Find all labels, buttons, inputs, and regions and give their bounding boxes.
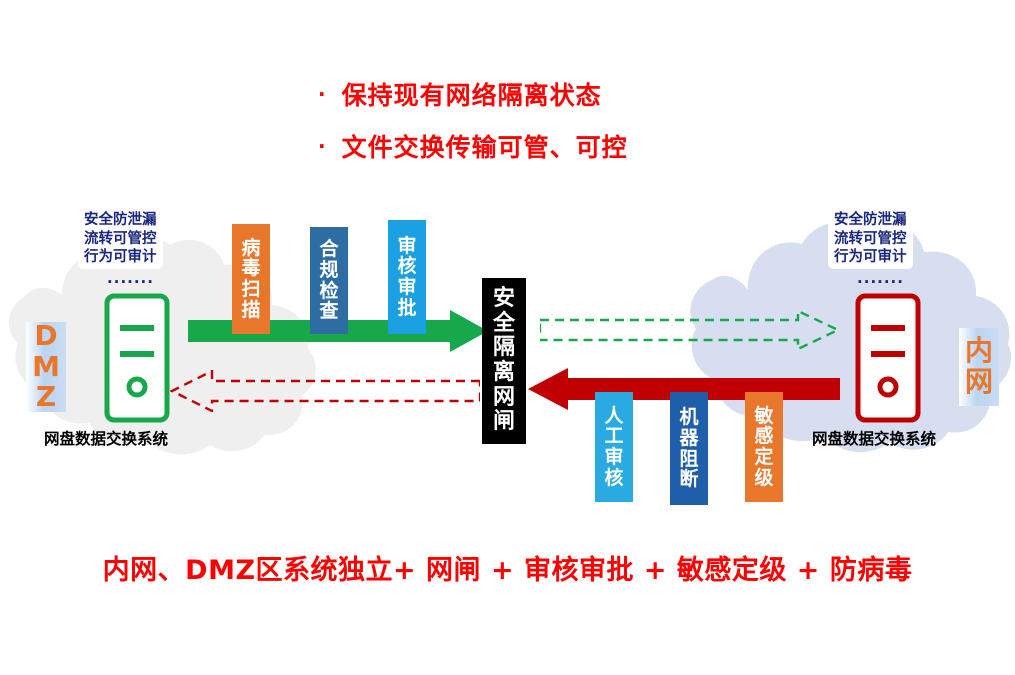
- pill-sensitivity-grading[interactable]: 敏 感 定 级: [745, 392, 783, 502]
- pill-machine-block-char-3: 断: [679, 469, 698, 490]
- pill-manual-review[interactable]: 人 工 审 核: [595, 392, 633, 502]
- bullet-marker-icon: ·: [318, 136, 326, 156]
- pill-machine-block[interactable]: 机 器 阻 断: [670, 392, 708, 505]
- zone-label-dmz: D M Z: [26, 322, 66, 412]
- intranet-capability-callout: 安全防泄漏 流转可管控 行为可审计: [828, 207, 913, 269]
- pill-sensitivity-grading-char-1: 感: [754, 426, 773, 447]
- bullet-marker-icon: ·: [318, 84, 326, 104]
- dmz-capability-callout: 安全防泄漏 流转可管控 行为可审计: [78, 207, 163, 269]
- gateway-char-0: 安: [493, 287, 515, 312]
- dmz-callout-line-1: 安全防泄漏: [84, 211, 157, 230]
- pill-compliance-check-char-1: 规: [319, 260, 338, 281]
- pill-compliance-check-char-3: 查: [319, 301, 338, 322]
- title-bullet-2: · 文件交换传输可管、可控: [318, 128, 818, 164]
- arrow-gateway-to-intranet-outbound: [540, 310, 840, 350]
- zone-label-dmz-char-2: Z: [36, 382, 56, 413]
- pill-virus-scan-char-3: 描: [241, 300, 260, 321]
- intranet-system-caption: 网盘数据交换系统: [812, 427, 936, 449]
- gateway-char-5: 闸: [493, 410, 515, 435]
- title-bullet-1-text: 保持现有网络隔离状态: [342, 76, 602, 112]
- pill-review-approval-char-2: 审: [397, 277, 416, 298]
- pill-compliance-check-char-0: 合: [319, 239, 338, 260]
- dmz-callout-line-2: 流转可管控: [84, 230, 157, 249]
- gateway-char-2: 隔: [493, 336, 515, 361]
- pill-sensitivity-grading-char-0: 敏: [754, 406, 773, 427]
- pill-manual-review-char-2: 审: [604, 447, 623, 468]
- pill-manual-review-char-0: 人: [604, 406, 623, 427]
- intranet-callout-line-3: 行为可审计: [834, 248, 907, 267]
- zone-label-intranet-char-1: 网: [965, 367, 993, 398]
- zone-label-intranet: 内 网: [959, 328, 999, 406]
- pill-sensitivity-grading-char-3: 级: [754, 468, 773, 489]
- dmz-server-icon: [104, 293, 170, 423]
- pill-virus-scan[interactable]: 病 毒 扫 描: [232, 224, 270, 334]
- pill-compliance-check-char-2: 检: [319, 281, 338, 302]
- dmz-callout-line-3: 行为可审计: [84, 248, 157, 267]
- intranet-callout-line-2: 流转可管控: [834, 230, 907, 249]
- dmz-callout-connector-dots: ·······: [78, 275, 183, 290]
- title-bullet-2-text: 文件交换传输可管、可控: [342, 128, 628, 164]
- zone-label-dmz-char-0: D: [34, 321, 57, 352]
- pill-manual-review-char-1: 工: [604, 426, 623, 447]
- summary-formula: 内网、DMZ区系统独立+ 网闸 + 审核审批 + 敏感定级 + 防病毒: [0, 548, 1015, 587]
- pill-review-approval-char-3: 批: [397, 298, 416, 319]
- gateway-char-3: 离: [493, 361, 515, 386]
- pill-virus-scan-char-2: 扫: [241, 279, 260, 300]
- title-bullet-1: · 保持现有网络隔离状态: [318, 76, 818, 112]
- pill-review-approval-char-1: 核: [397, 256, 416, 277]
- zone-label-dmz-char-1: M: [32, 352, 60, 383]
- intranet-callout-connector-dots: ·······: [828, 275, 933, 290]
- arrow-gateway-to-dmz-inbound: [170, 370, 480, 412]
- dmz-system-caption: 网盘数据交换系统: [44, 427, 168, 449]
- pill-machine-block-char-2: 阻: [679, 449, 698, 470]
- pill-virus-scan-char-0: 病: [241, 238, 260, 259]
- pill-review-approval[interactable]: 审 核 审 批: [388, 220, 426, 334]
- pill-virus-scan-char-1: 毒: [241, 258, 260, 279]
- pill-manual-review-char-3: 核: [604, 468, 623, 489]
- security-isolation-gateway[interactable]: 安 全 隔 离 网 闸: [482, 278, 526, 444]
- intranet-server-icon: [855, 293, 921, 423]
- title-bullet-list: · 保持现有网络隔离状态 · 文件交换传输可管、可控: [318, 76, 818, 180]
- gateway-char-4: 网: [493, 386, 515, 411]
- intranet-callout-line-1: 安全防泄漏: [834, 211, 907, 230]
- pill-machine-block-char-0: 机: [679, 407, 698, 428]
- pill-machine-block-char-1: 器: [679, 428, 698, 449]
- pill-review-approval-char-0: 审: [397, 236, 416, 257]
- pill-compliance-check[interactable]: 合 规 检 查: [310, 227, 348, 334]
- zone-label-intranet-char-0: 内: [965, 336, 993, 367]
- pill-sensitivity-grading-char-2: 定: [754, 447, 773, 468]
- gateway-char-1: 全: [493, 312, 515, 337]
